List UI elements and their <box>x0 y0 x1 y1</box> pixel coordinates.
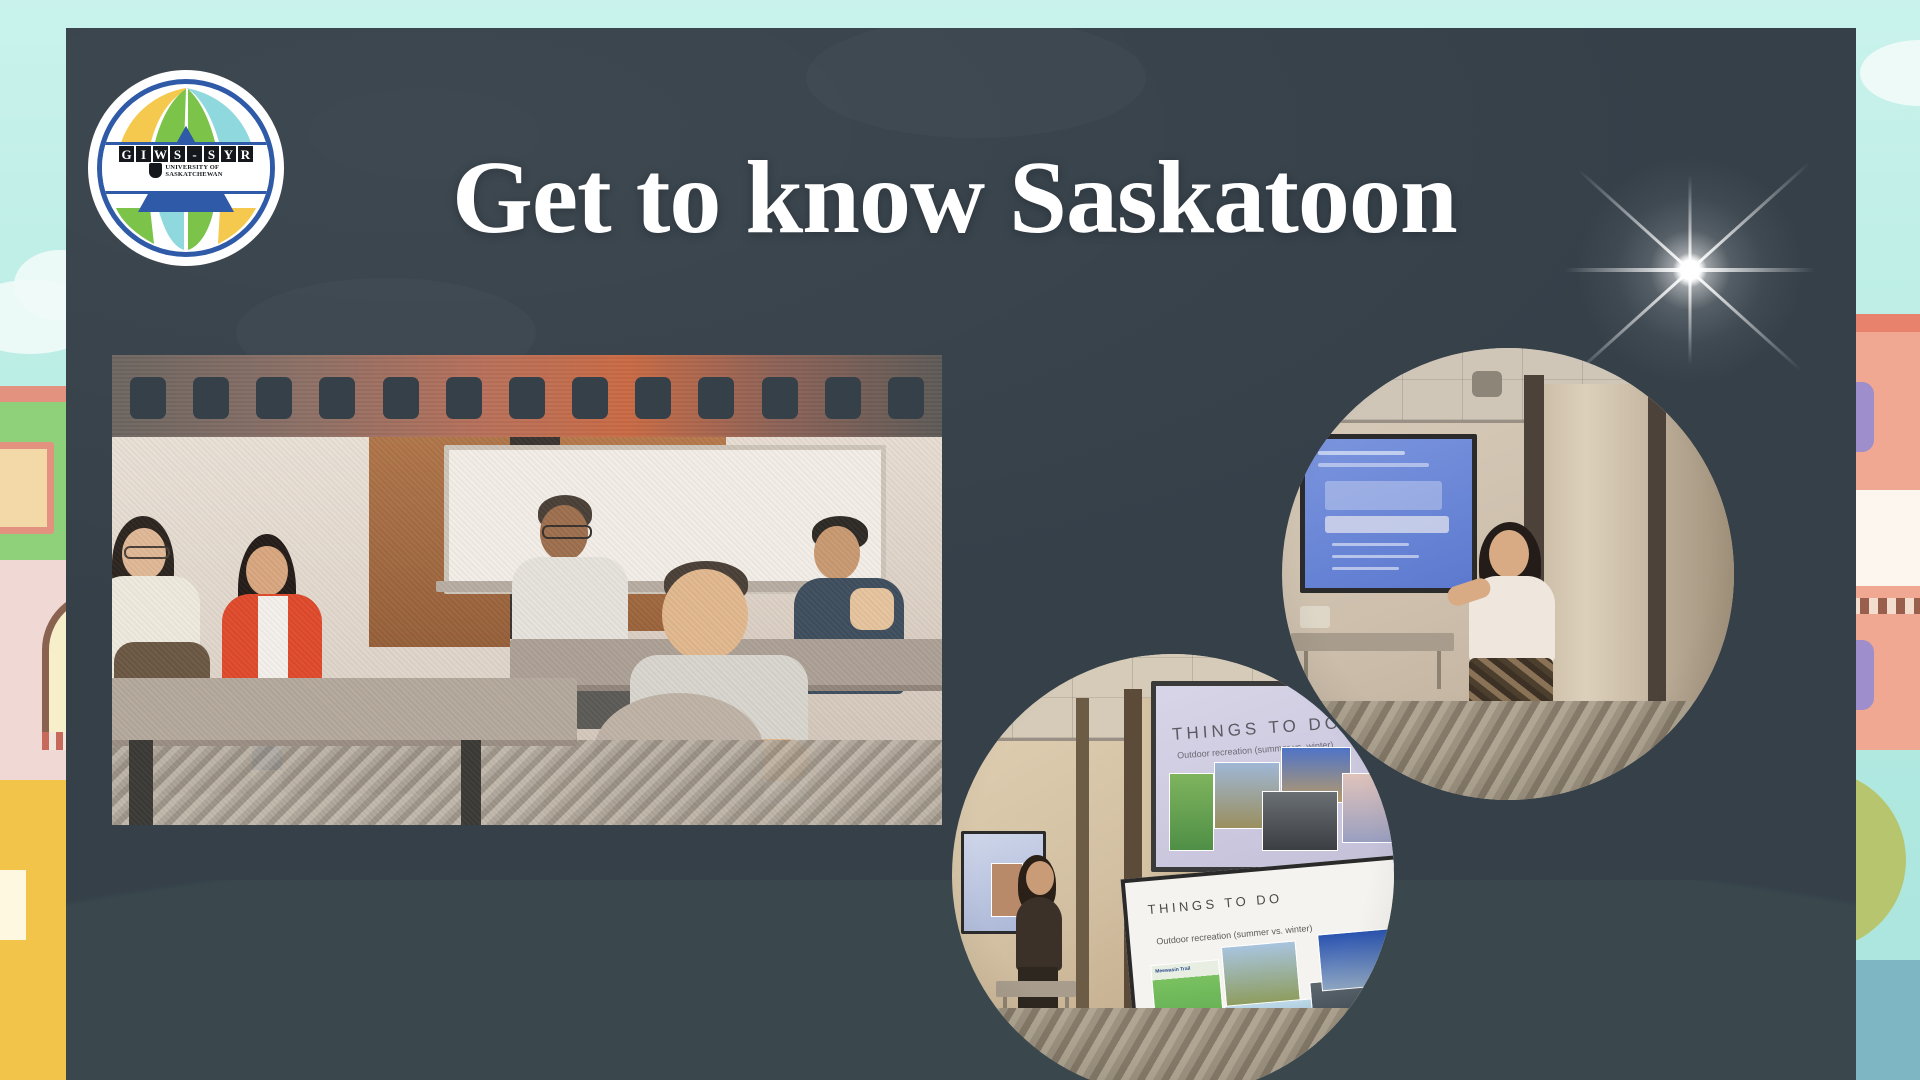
university-line-2: SASKATCHEWAN <box>165 171 222 178</box>
university-line-1: UNIVERSITY OF <box>165 164 222 171</box>
university-wordmark: UNIVERSITY OF SASKATCHEWAN <box>149 163 222 178</box>
logo-name-band: G I W S - S Y R UNIVERSITY OF SASKATCHEW <box>102 142 270 194</box>
shield-icon <box>149 163 162 178</box>
logo-letters: G I W S - S Y R <box>119 146 253 162</box>
page-title: Get to know Saskatoon <box>452 146 1692 250</box>
sprocket-hole <box>383 377 419 419</box>
giws-syr-logo: G I W S - S Y R UNIVERSITY OF SASKATCHEW <box>88 70 284 266</box>
film-sprocket-holes <box>130 377 924 419</box>
poster-panel: G I W S - S Y R UNIVERSITY OF SASKATCHEW <box>66 28 1856 1080</box>
sprocket-hole <box>446 377 482 419</box>
building-yellow <box>0 780 70 1080</box>
sprocket-hole <box>825 377 861 419</box>
sprocket-hole <box>256 377 292 419</box>
window <box>0 442 54 534</box>
projector-icon <box>1472 371 1502 397</box>
logo-letter: Y <box>221 146 236 162</box>
sprocket-hole <box>635 377 671 419</box>
photo-content <box>112 437 942 825</box>
sprocket-hole <box>698 377 734 419</box>
slide-thumb <box>1262 791 1338 851</box>
slide-title: THINGS TO DO <box>1147 891 1283 917</box>
poster-canvas: G I W S - S Y R UNIVERSITY OF SASKATCHEW <box>0 0 1920 1080</box>
sprocket-hole <box>572 377 608 419</box>
logo-letter: W <box>153 146 168 162</box>
logo-letter: I <box>136 146 151 162</box>
logo-letter: S <box>170 146 185 162</box>
wall-projector-screen: THINGS TO DO Outdoor recreation (summer … <box>1151 681 1394 872</box>
sprocket-hole <box>888 377 924 419</box>
classroom-audience-photo <box>112 355 942 825</box>
slide-thumb <box>1342 773 1394 844</box>
logo-letter: G <box>119 146 134 162</box>
logo-letter: S <box>204 146 219 162</box>
sprocket-hole <box>130 377 166 419</box>
sprocket-hole <box>509 377 545 419</box>
slide-thumb <box>1317 928 1394 992</box>
sprocket-hole <box>193 377 229 419</box>
things-to-do-slides-photo: THINGS TO DO Outdoor recreation (summer … <box>952 654 1394 1080</box>
logo-letter: - <box>187 146 202 162</box>
map-label: Meewasin Trail <box>1155 966 1191 975</box>
panel-cloud-decor <box>806 18 1146 138</box>
sprocket-hole <box>762 377 798 419</box>
side-table <box>1291 633 1454 651</box>
slide-thumb <box>1169 773 1213 851</box>
sprocket-hole <box>319 377 355 419</box>
logo-letter: R <box>238 146 253 162</box>
water-glasses <box>1300 606 1330 628</box>
projector-screen <box>1300 434 1477 593</box>
health-cards-row <box>1325 516 1449 532</box>
